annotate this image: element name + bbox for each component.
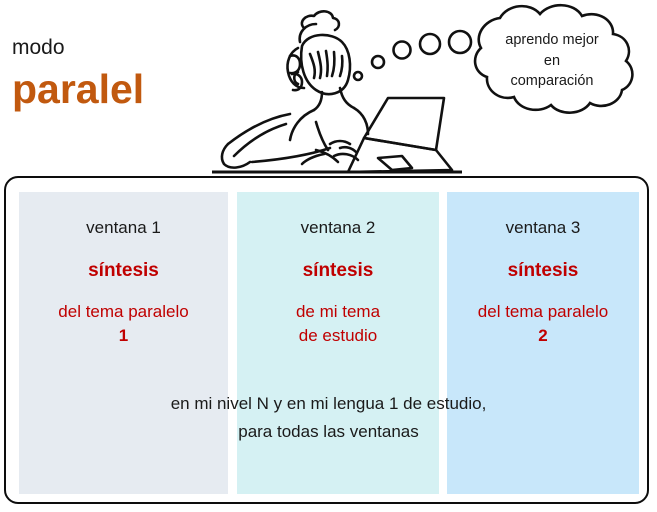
window-column-3-number: 2 [447, 324, 639, 348]
bubble-line-2: en [544, 53, 560, 69]
window-column-1-desc-text: del tema paralelo [58, 302, 188, 321]
window-column-2-title: ventana 2 [237, 218, 439, 238]
window-column-3: ventana 3 síntesis del tema paralelo 2 [447, 192, 639, 494]
parallel-mode-panel: ventana 1 síntesis del tema paralelo 1 v… [4, 176, 649, 504]
window-column-2-heading: síntesis [237, 260, 439, 282]
mode-label: modo [12, 36, 65, 60]
thought-bubble-text: aprendo mejor en comparación [462, 30, 642, 92]
window-column-3-description: del tema paralelo 2 [447, 300, 639, 348]
window-column-1-description: del tema paralelo 1 [19, 300, 228, 348]
mode-name-title: paralel [12, 68, 144, 111]
window-column-2-desc-text: de mi tema [296, 302, 380, 321]
bubble-line-3: comparación [510, 73, 593, 89]
window-column-3-heading: síntesis [447, 260, 639, 282]
window-column-2: ventana 2 síntesis de mi tema de estudio [237, 192, 439, 494]
window-column-2-number: de estudio [237, 324, 439, 348]
window-column-1-title: ventana 1 [19, 218, 228, 238]
window-column-1-number: 1 [19, 324, 228, 348]
window-column-2-description: de mi tema de estudio [237, 300, 439, 348]
window-column-3-title: ventana 3 [447, 218, 639, 238]
window-column-3-desc-text: del tema paralelo [478, 302, 608, 321]
header-area: modo paralel [0, 0, 657, 176]
window-column-1: ventana 1 síntesis del tema paralelo 1 [19, 192, 228, 494]
window-column-1-heading: síntesis [19, 260, 228, 282]
bubble-line-1: aprendo mejor [505, 32, 599, 48]
